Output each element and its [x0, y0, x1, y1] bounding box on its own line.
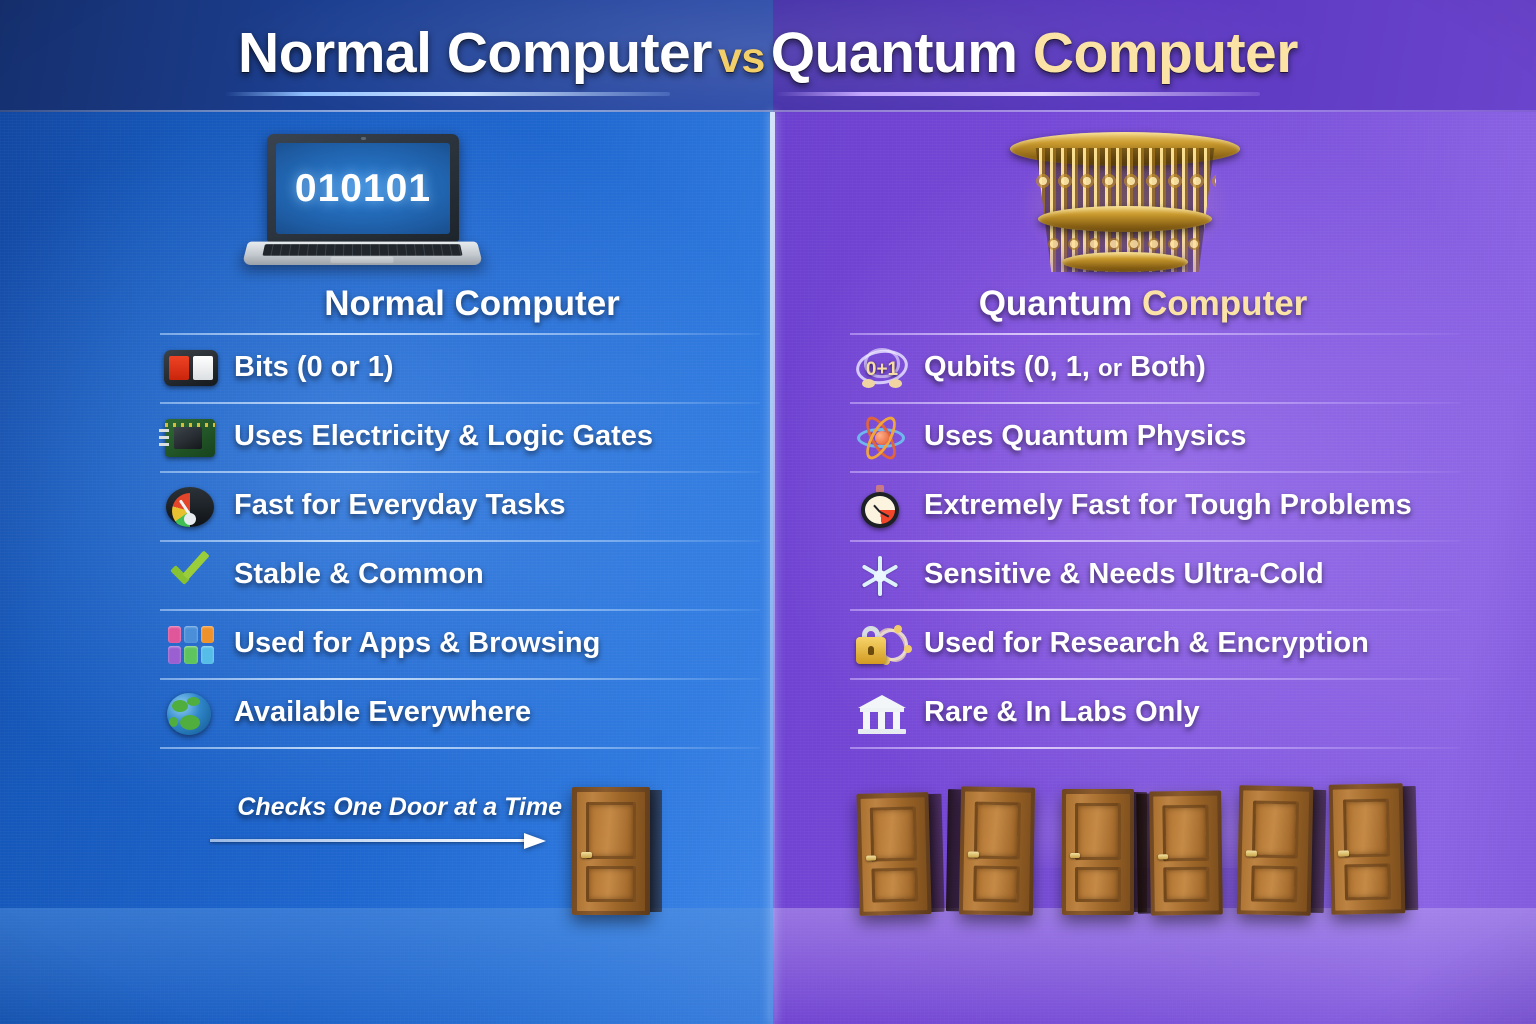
app-tile	[201, 626, 214, 644]
right-column-header: Quantum Computer	[893, 284, 1393, 324]
list-item[interactable]: Used for Apps & Browsing	[160, 609, 760, 678]
list-item[interactable]: 0+1 Qubits (0, 1, or Both)	[850, 333, 1460, 402]
list-item[interactable]: Rare & In Labs Only	[850, 678, 1460, 747]
speedometer-icon	[160, 482, 222, 530]
title-vs: vs	[712, 34, 771, 82]
list-item[interactable]: Extremely Fast for Tough Problems	[850, 471, 1460, 540]
laptop-icon: 010101	[245, 134, 480, 274]
door-4	[1149, 791, 1223, 916]
stopwatch-icon	[850, 482, 912, 530]
list-item-label: Uses Quantum Physics	[924, 420, 1246, 453]
list-item[interactable]: Stable & Common	[160, 540, 760, 609]
binary-text: 010101	[295, 167, 431, 211]
microchip-icon	[160, 413, 222, 461]
list-item-label: Rare & In Labs Only	[924, 696, 1200, 729]
snowflake-icon	[850, 551, 912, 599]
door-single	[572, 787, 650, 915]
globe-icon	[160, 689, 222, 737]
door-5	[1237, 785, 1314, 916]
laptop-lid: 010101	[267, 134, 459, 242]
list-item-label: Available Everywhere	[234, 696, 531, 729]
list-item-label: Used for Research & Encryption	[924, 627, 1369, 660]
door-2	[959, 786, 1035, 915]
list-item-label: Bits (0 or 1)	[234, 351, 394, 384]
center-divider	[770, 112, 775, 1024]
right-header-quantum: Quantum	[979, 284, 1133, 323]
laptop-camera	[361, 137, 366, 140]
separator	[850, 747, 1460, 749]
qubit-label-end: Both)	[1122, 351, 1206, 383]
title-part-normal: Normal Computer	[238, 21, 712, 85]
list-item-label: Fast for Everyday Tasks	[234, 489, 566, 522]
bits-red-white-icon	[160, 344, 222, 392]
chandelier-components-lower	[1046, 236, 1204, 252]
list-item[interactable]: Sensitive & Needs Ultra-Cold	[850, 540, 1460, 609]
title-part-computer: Computer	[1033, 21, 1298, 85]
chandelier-components-upper	[1034, 172, 1216, 190]
chandelier-plate-mid	[1038, 206, 1212, 232]
laptop-screen: 010101	[276, 143, 450, 234]
app-tile	[168, 646, 181, 664]
title-underline-right	[775, 92, 1260, 96]
laptop-trackpad	[330, 257, 393, 263]
title-part-quantum: Quantum	[771, 21, 1018, 85]
qubit-superposition-icon: 0+1	[850, 344, 912, 392]
quantum-chandelier-icon	[1000, 126, 1250, 278]
left-floor	[0, 908, 773, 1024]
list-item-label: Stable & Common	[234, 558, 484, 591]
page-title: Normal ComputervsQuantum Computer	[0, 24, 1536, 84]
list-item[interactable]: Fast for Everyday Tasks	[160, 471, 760, 540]
app-tile	[168, 626, 181, 644]
atom-icon	[850, 413, 912, 461]
green-check-icon	[160, 551, 222, 599]
app-grid-icon	[160, 620, 222, 668]
qubit-icon-text: 0+1	[854, 359, 910, 381]
list-item[interactable]: Used for Research & Encryption	[850, 609, 1460, 678]
list-item-label: Extremely Fast for Tough Problems	[924, 489, 1412, 522]
title-divider-rule	[0, 110, 1536, 112]
app-tile	[184, 626, 197, 644]
list-item-label: Qubits (0, 1, or Both)	[924, 351, 1206, 384]
list-item-label: Sensitive & Needs Ultra-Cold	[924, 558, 1324, 591]
door-1	[856, 792, 931, 916]
list-item[interactable]: Uses Electricity & Logic Gates	[160, 402, 760, 471]
chandelier-plate-bottom	[1062, 252, 1188, 272]
title-underline-left	[225, 92, 670, 96]
left-column-header: Normal Computer	[222, 284, 722, 324]
institution-icon	[850, 689, 912, 737]
app-tile	[201, 646, 214, 664]
lock-atom-icon	[850, 620, 912, 668]
laptop-keyboard	[262, 244, 462, 256]
list-item-label: Used for Apps & Browsing	[234, 627, 600, 660]
right-arrow-icon	[210, 833, 550, 849]
infographic-canvas: Normal ComputervsQuantum Computer 010101…	[0, 0, 1536, 1024]
left-caption: Checks One Door at a Time	[232, 793, 562, 822]
qubit-label-main: Qubits (0, 1,	[924, 351, 1098, 383]
door-6	[1329, 783, 1406, 915]
door-3	[1062, 789, 1134, 915]
list-item-label: Uses Electricity & Logic Gates	[234, 420, 653, 453]
list-item[interactable]: Uses Quantum Physics	[850, 402, 1460, 471]
qubit-label-or: or	[1098, 355, 1122, 382]
app-tile	[184, 646, 197, 664]
right-floor	[773, 908, 1536, 1024]
right-header-computer: Computer	[1142, 284, 1307, 323]
separator	[160, 747, 760, 749]
laptop-base	[242, 242, 483, 265]
list-item[interactable]: Bits (0 or 1)	[160, 333, 760, 402]
list-item[interactable]: Available Everywhere	[160, 678, 760, 747]
